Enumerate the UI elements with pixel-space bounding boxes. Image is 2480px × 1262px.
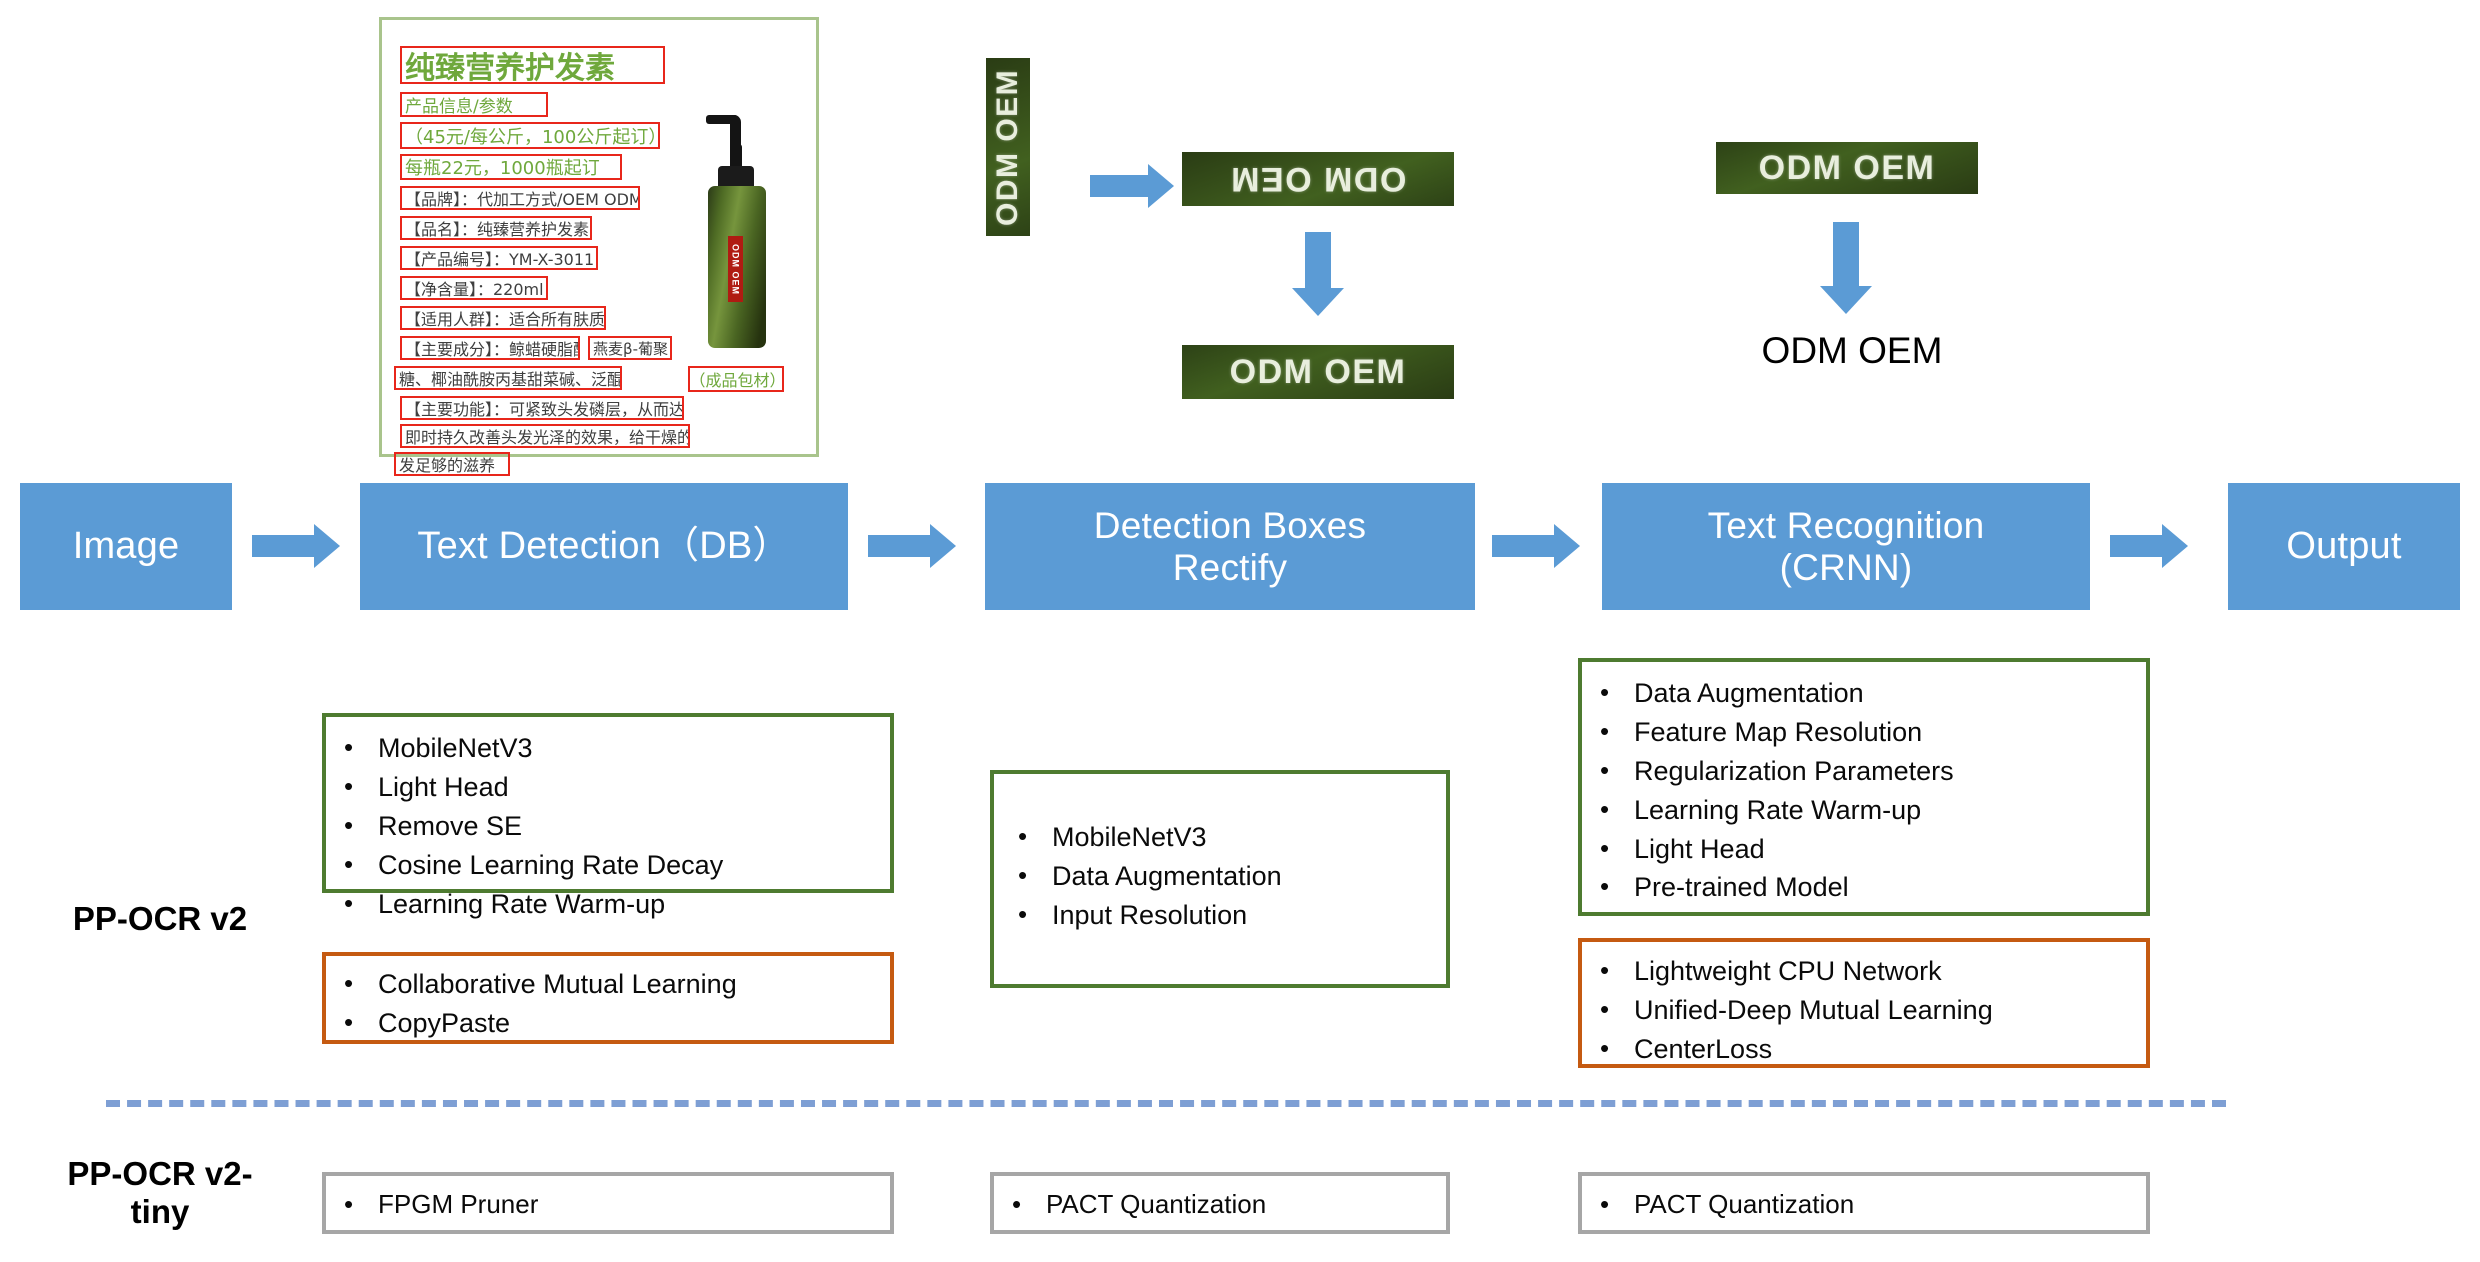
list-item: •Regularization Parameters <box>1600 752 2146 791</box>
bullet-glyph: • <box>1018 896 1052 933</box>
pipeline-arrow-3 <box>1492 524 1584 568</box>
card-recognition-orange: •Lightweight CPU Network •Unified-Deep M… <box>1578 938 2150 1068</box>
bullet-glyph: • <box>1600 952 1634 989</box>
bullet-glyph: • <box>1600 868 1634 905</box>
pipeline-stage-text-detection[interactable]: Text Detection（DB） <box>360 483 848 610</box>
detection-demo-frame: 纯臻营养护发素 产品信息/参数 （45元/每公斤，100公斤起订） 每瓶22元，… <box>379 17 819 457</box>
detection-box: 产品信息/参数 <box>400 92 548 117</box>
list-item: •Remove SE <box>344 807 890 846</box>
bullet-glyph: • <box>344 885 378 922</box>
recognition-result-text: ODM OEM <box>1722 330 1982 372</box>
list-item: •CopyPaste <box>344 1004 890 1043</box>
pipeline-arrow-1 <box>252 524 344 568</box>
list-item: •Data Augmentation <box>1600 674 2146 713</box>
bullet-list: •MobileNetV3 •Data Augmentation •Input R… <box>1018 818 1446 935</box>
card-recognition-tiny: •PACT Quantization <box>1578 1172 2150 1234</box>
card-rectify-tiny: •PACT Quantization <box>990 1172 1450 1234</box>
bullet-glyph: • <box>344 729 378 766</box>
detection-box: 糖、椰油酰胺丙基甜菜碱、泛醌 <box>394 366 622 390</box>
bullet-glyph: • <box>1018 818 1052 855</box>
list-item: •Collaborative Mutual Learning <box>344 965 890 1004</box>
rectify-corrected-chip: ODM OEM <box>1182 345 1454 399</box>
recognition-crop-chip: ODM OEM <box>1716 142 1978 194</box>
card-recognition-green: •Data Augmentation •Feature Map Resoluti… <box>1578 658 2150 916</box>
list-item: •Lightweight CPU Network <box>1600 952 2146 991</box>
bullet-glyph: • <box>1012 1186 1046 1223</box>
list-item: •MobileNetV3 <box>344 729 890 768</box>
pipeline-stage-text-recognition[interactable]: Text Recognition (CRNN) <box>1602 483 2090 610</box>
bottle-label: ODM OEM <box>728 236 743 302</box>
bullet-glyph: • <box>1018 857 1052 894</box>
detection-box: 【主要成分】：鲸蜡硬脂醇 <box>400 336 580 360</box>
card-detection-tiny: •FPGM Pruner <box>322 1172 894 1234</box>
card-rectify-green: •MobileNetV3 •Data Augmentation •Input R… <box>990 770 1450 988</box>
card-detection-green: •MobileNetV3 •Light Head •Remove SE •Cos… <box>322 713 894 893</box>
list-item: •Unified-Deep Mutual Learning <box>1600 991 2146 1030</box>
section-divider <box>106 1100 2226 1107</box>
detection-box: 每瓶22元，1000瓶起订 <box>400 154 622 180</box>
detection-box: 发足够的滋养 <box>394 452 510 476</box>
list-item: •PACT Quantization <box>1600 1186 2146 1223</box>
bullet-list: •PACT Quantization <box>1600 1186 2146 1223</box>
pipeline-stage-image[interactable]: Image <box>20 483 232 610</box>
bullet-list: •FPGM Pruner <box>344 1186 890 1223</box>
bullet-glyph: • <box>344 768 378 805</box>
list-item: •Pre-trained Model <box>1600 868 2146 907</box>
bullet-list: •PACT Quantization <box>1012 1186 1446 1223</box>
list-item: •Light Head <box>1600 830 2146 869</box>
pipeline-stage-detection-boxes-rectify[interactable]: Detection Boxes Rectify <box>985 483 1475 610</box>
rectify-source-chip: ODM OEM <box>986 58 1030 236</box>
detection-box: 【净含量】：220ml <box>400 276 548 300</box>
bullet-glyph: • <box>1600 991 1634 1028</box>
bullet-list: •Lightweight CPU Network •Unified-Deep M… <box>1600 952 2146 1069</box>
row-label-ppocr-v2: PP-OCR v2 <box>30 900 290 938</box>
bullet-list: •Data Augmentation •Feature Map Resoluti… <box>1600 674 2146 907</box>
bullet-glyph: • <box>1600 1030 1634 1067</box>
bullet-glyph: • <box>1600 791 1634 828</box>
bullet-glyph: • <box>344 1004 378 1041</box>
recognition-arrow-down <box>1820 222 1872 318</box>
bullet-list: •Collaborative Mutual Learning •CopyPast… <box>344 965 890 1043</box>
bullet-glyph: • <box>1600 752 1634 789</box>
bullet-glyph: • <box>1600 830 1634 867</box>
detection-box: （成品包材） <box>688 366 784 392</box>
detection-box: 纯臻营养护发素 <box>400 46 665 84</box>
list-item: •Data Augmentation <box>1018 857 1446 896</box>
list-item: •PACT Quantization <box>1012 1186 1446 1223</box>
pipeline-arrow-2 <box>868 524 960 568</box>
bullet-glyph: • <box>344 1186 378 1223</box>
detection-box: 【主要功能】：可紧致头发磷层，从而达到 <box>400 396 684 420</box>
bullet-glyph: • <box>1600 713 1634 750</box>
list-item: •Feature Map Resolution <box>1600 713 2146 752</box>
card-detection-orange: •Collaborative Mutual Learning •CopyPast… <box>322 952 894 1044</box>
list-item: •Cosine Learning Rate Decay <box>344 846 890 885</box>
list-item: •FPGM Pruner <box>344 1186 890 1223</box>
detection-box: 【品牌】：代加工方式/OEM ODM <box>400 186 640 210</box>
detection-box: （45元/每公斤，100公斤起订） <box>400 122 660 149</box>
bullet-list: •MobileNetV3 •Light Head •Remove SE •Cos… <box>344 729 890 923</box>
rectify-arrow-down <box>1292 232 1344 318</box>
detection-box: 【产品编号】：YM-X-3011 <box>400 246 598 270</box>
list-item: •Learning Rate Warm-up <box>344 885 890 924</box>
bullet-glyph: • <box>1600 674 1634 711</box>
list-item: •MobileNetV3 <box>1018 818 1446 857</box>
pipeline-arrow-4 <box>2110 524 2192 568</box>
detection-box: 【品名】：纯臻营养护发素 <box>400 216 592 240</box>
detection-box: 【适用人群】：适合所有肤质 <box>400 306 606 330</box>
detection-box: 燕麦β-葡聚 <box>588 336 672 360</box>
list-item: •CenterLoss <box>1600 1030 2146 1069</box>
list-item: •Input Resolution <box>1018 896 1446 935</box>
pipeline-stage-output[interactable]: Output <box>2228 483 2460 610</box>
detection-box: 即时持久改善头发光泽的效果，给干燥的头 <box>400 424 690 448</box>
rectify-rotated-chip: ODM OEM <box>1182 152 1454 206</box>
row-label-ppocr-v2-tiny: PP-OCR v2- tiny <box>30 1155 290 1231</box>
bullet-glyph: • <box>1600 1186 1634 1223</box>
bullet-glyph: • <box>344 965 378 1002</box>
bullet-glyph: • <box>344 846 378 883</box>
list-item: •Learning Rate Warm-up <box>1600 791 2146 830</box>
list-item: •Light Head <box>344 768 890 807</box>
rectify-arrow-right <box>1090 164 1176 208</box>
bullet-glyph: • <box>344 807 378 844</box>
